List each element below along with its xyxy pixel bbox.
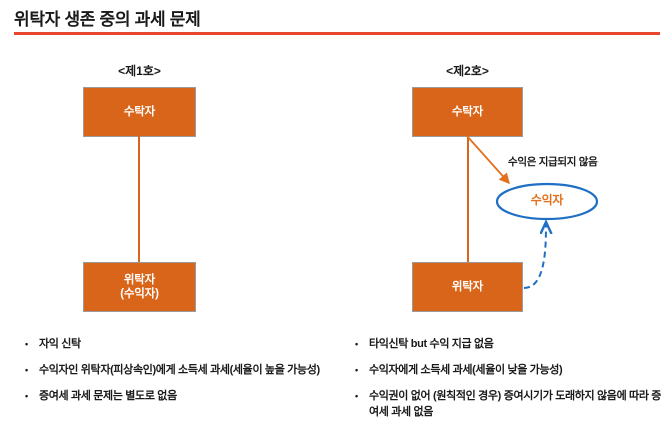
list-item: 타익신탁 but 수익 지급 없음 xyxy=(352,336,668,352)
list-item: 증여세 과세 문제는 별도로 없음 xyxy=(22,388,332,404)
arrow-annotation-no-payment: 수익은 지급되지 않음 xyxy=(508,154,597,169)
diagram-right-heading: <제2호> xyxy=(412,62,523,79)
dashed-arrow-truster-to-beneficiary xyxy=(524,224,546,288)
notes-left: 자익 신탁 수익자인 위탁자(피상속인)에게 소득세 과세(세율이 높을 가능성… xyxy=(22,336,332,414)
diagram-left-truster-line1: 위탁자 xyxy=(124,274,155,286)
diagram-right-truster-box: 위탁자 xyxy=(412,262,523,312)
page-title: 위탁자 생존 중의 과세 문제 xyxy=(14,5,200,30)
diagram-left-connector-line xyxy=(138,136,140,263)
diagram-left-trustee-box: 수탁자 xyxy=(83,87,196,137)
list-item: 자익 신탁 xyxy=(22,336,332,352)
list-item: 수익자인 위탁자(피상속인)에게 소득세 과세(세율이 높을 가능성) xyxy=(22,362,332,378)
title-divider xyxy=(14,32,660,35)
slide-canvas: 위탁자 생존 중의 과세 문제 <제1호> 수탁자 위탁자 (수익자) <제2호… xyxy=(0,0,670,438)
beneficiary-ellipse-label: 수익자 xyxy=(497,191,597,208)
diagram-left-truster-box: 위탁자 (수익자) xyxy=(83,262,196,312)
diagram-left-heading: <제1호> xyxy=(83,62,196,79)
diagram-right-trustee-box: 수탁자 xyxy=(412,87,523,137)
list-item: 수익자에게 소득세 과세(세율이 낮을 가능성) xyxy=(352,362,668,378)
notes-right: 타익신탁 but 수익 지급 없음 수익자에게 소득세 과세(세율이 낮을 가능… xyxy=(352,336,668,430)
diagram-left-truster-line2: (수익자) xyxy=(120,288,158,300)
diagram-right-connector-line xyxy=(467,136,469,263)
solid-arrow-trustee-to-beneficiary xyxy=(467,136,509,183)
list-item: 수익권이 없어 (원칙적인 경우) 증여시기가 도래하지 않음에 따라 증여세 … xyxy=(352,388,668,420)
